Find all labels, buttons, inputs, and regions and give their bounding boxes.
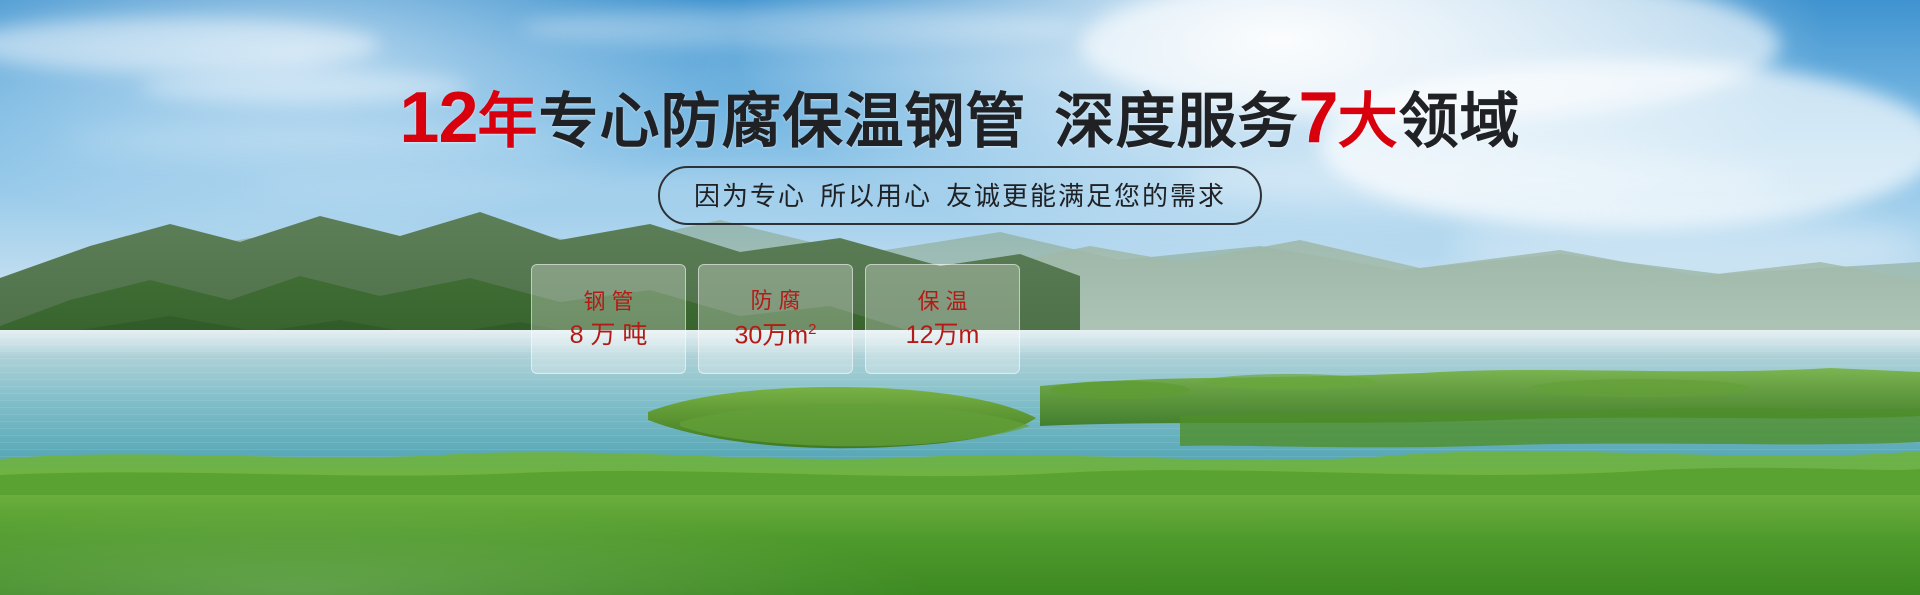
hero-banner: 12年专心防腐保温钢管深度服务7大领域 因为专心所以用心友诚更能满足您的需求 钢… bbox=[0, 0, 1920, 595]
subtitle-segment-3: 友诚更能满足您的需求 bbox=[946, 181, 1226, 211]
subtitle-pill: 因为专心所以用心友诚更能满足您的需求 bbox=[658, 166, 1262, 225]
headline-years-number: 12 bbox=[399, 78, 477, 158]
headline-years-unit: 年 bbox=[478, 88, 539, 155]
stat-card-value: 8 万 吨 bbox=[570, 323, 648, 348]
stat-card-value-main: 8 万 吨 bbox=[570, 321, 648, 349]
stat-card-value-main: 12万m bbox=[906, 321, 980, 349]
stat-card-group: 钢管 8 万 吨 防腐 30万m2 保温 12万m bbox=[531, 264, 1020, 374]
subtitle-segment-1: 因为专心 bbox=[694, 181, 806, 211]
banner-content: 12年专心防腐保温钢管深度服务7大领域 因为专心所以用心友诚更能满足您的需求 钢… bbox=[0, 0, 1920, 595]
subtitle-segment-2: 所以用心 bbox=[820, 181, 932, 211]
stat-card-title: 防腐 bbox=[744, 290, 806, 312]
stat-card-title: 钢管 bbox=[577, 291, 639, 313]
stat-card-title: 保温 bbox=[911, 291, 973, 313]
stat-card-value: 30万m2 bbox=[735, 322, 817, 348]
headline-main-text: 专心防腐保温钢管 bbox=[539, 88, 1027, 155]
headline-service-text: 深度服务 bbox=[1055, 88, 1299, 155]
headline-fields-unit: 大 bbox=[1338, 88, 1399, 155]
stat-card-anticorrosion: 防腐 30万m2 bbox=[698, 264, 853, 374]
stat-card-value: 12万m bbox=[906, 323, 980, 348]
headline-fields-text: 领域 bbox=[1399, 88, 1521, 155]
headline-fields-number: 7 bbox=[1299, 78, 1338, 158]
stat-card-value-main: 30万m bbox=[735, 321, 809, 349]
stat-card-steel-pipe: 钢管 8 万 吨 bbox=[531, 264, 686, 374]
page-title: 12年专心防腐保温钢管深度服务7大领域 bbox=[0, 82, 1920, 154]
stat-card-value-superscript: 2 bbox=[808, 321, 816, 338]
stat-card-insulation: 保温 12万m bbox=[865, 264, 1020, 374]
